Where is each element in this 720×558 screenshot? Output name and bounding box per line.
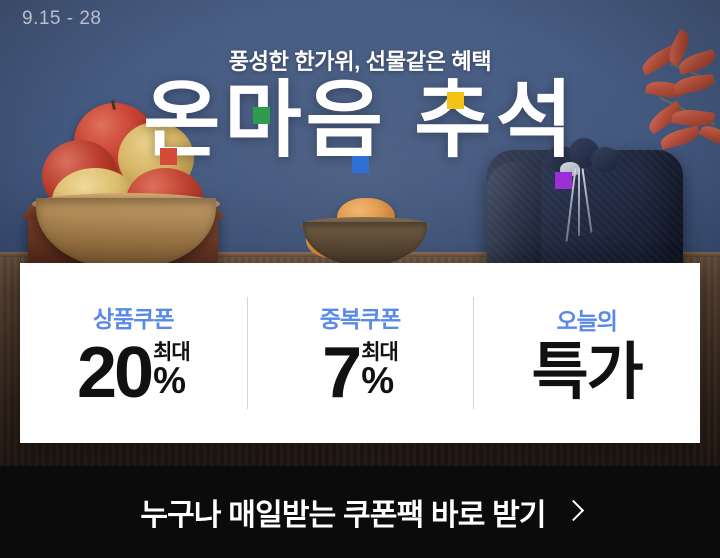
accent-square-purple (555, 172, 572, 189)
coupon-label: 오늘의 (556, 302, 616, 336)
coupon-amount: 20 (77, 340, 151, 406)
promo-title: 온마음 추석 (0, 78, 720, 162)
coupon-label: 상품쿠폰 (93, 300, 174, 334)
coupon-item-today-deal[interactable]: 오늘의 특가 (473, 263, 700, 443)
accent-square-blue (352, 156, 369, 173)
date-range-label: 9.15 - 28 (22, 8, 102, 30)
coupon-value: 20 최대 % (77, 340, 190, 406)
coupon-label: 중복쿠폰 (320, 300, 401, 334)
chevron-right-icon (564, 498, 580, 526)
cta-bar[interactable]: 누구나 매일받는 쿠폰팩 바로 받기 (0, 466, 720, 558)
chuseok-promo-banner: 9.15 - 28 풍성한 한가위, 선물같은 혜택 온마음 추석 상품쿠폰 2… (0, 0, 720, 558)
accent-square-green (253, 107, 270, 124)
accent-square-yellow (447, 92, 464, 109)
coupon-amount: 특가 (532, 342, 642, 404)
coupon-value: 7 최대 % (322, 340, 398, 406)
cta-label: 누구나 매일받는 쿠폰팩 바로 받기 (140, 490, 545, 534)
coupon-unit-stack: 최대 % (153, 342, 190, 397)
coupon-amount: 7 (322, 340, 359, 406)
accent-square-red (160, 148, 177, 165)
coupon-unit: % (153, 364, 186, 397)
coupon-item-product[interactable]: 상품쿠폰 20 최대 % (20, 263, 247, 443)
coupon-unit-stack: 최대 % (361, 342, 398, 397)
coupon-card: 상품쿠폰 20 최대 % 중복쿠폰 7 최대 % 오늘의 특가 (20, 263, 700, 443)
coupon-unit: % (361, 364, 394, 397)
coupon-value: 특가 (532, 342, 642, 404)
promo-subtitle: 풍성한 한가위, 선물같은 혜택 (0, 44, 720, 76)
coupon-item-stackable[interactable]: 중복쿠폰 7 최대 % (247, 263, 474, 443)
pouch-fold (487, 162, 541, 266)
